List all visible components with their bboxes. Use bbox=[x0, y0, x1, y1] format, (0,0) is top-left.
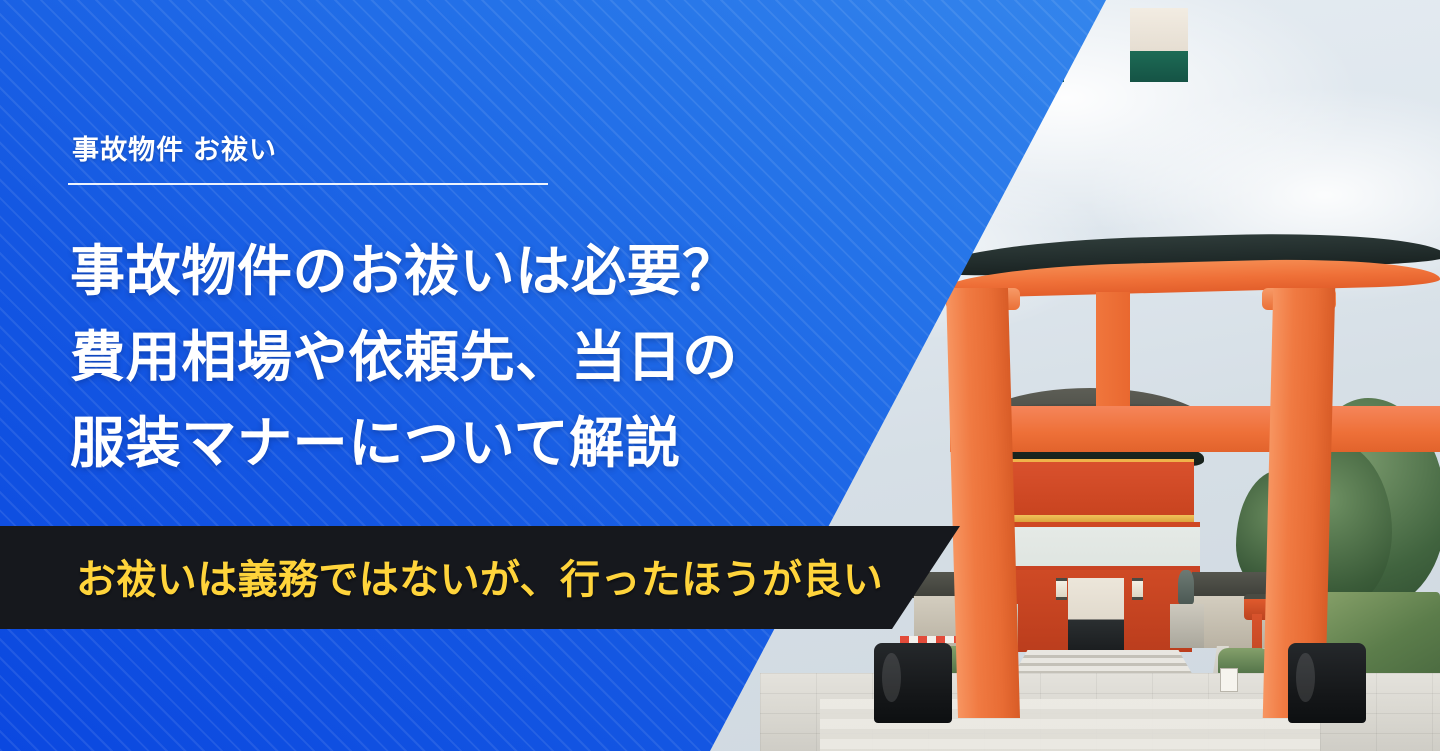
title-line-1: 事故物件のお祓いは必要？ bbox=[70, 228, 890, 314]
title-line-3: 服装マナーについて解説 bbox=[70, 400, 890, 486]
torii-base-right bbox=[1288, 643, 1366, 723]
shrine-door bbox=[1130, 8, 1188, 82]
hero-banner: 事故物件 お祓い 事故物件のお祓いは必要？ 費用相場や依頼先、当日の 服装マナー… bbox=[0, 0, 1440, 751]
torii-pillar-left bbox=[946, 288, 1020, 718]
torii-gakuzuka bbox=[1096, 292, 1130, 408]
paper-lantern bbox=[1056, 578, 1067, 600]
title-line-2: 費用相場や依頼先、当日の bbox=[70, 314, 890, 400]
statue-pedestal bbox=[1170, 604, 1204, 648]
fox-statue bbox=[1178, 570, 1194, 604]
information-sign bbox=[1220, 668, 1238, 692]
torii-nuki-beam bbox=[950, 406, 1440, 452]
torii-base-left bbox=[874, 643, 952, 723]
highlight-banner-text: お祓いは義務ではないが、行ったほうが良い bbox=[76, 547, 883, 605]
eyebrow-label: 事故物件 お祓い bbox=[72, 128, 277, 167]
divider-rule bbox=[68, 183, 548, 185]
shrine-entrance bbox=[1068, 578, 1124, 652]
page-title: 事故物件のお祓いは必要？ 費用相場や依頼先、当日の 服装マナーについて解説 bbox=[70, 228, 890, 486]
romon-upper-storey bbox=[988, 459, 1194, 517]
paper-lantern bbox=[1132, 578, 1143, 600]
